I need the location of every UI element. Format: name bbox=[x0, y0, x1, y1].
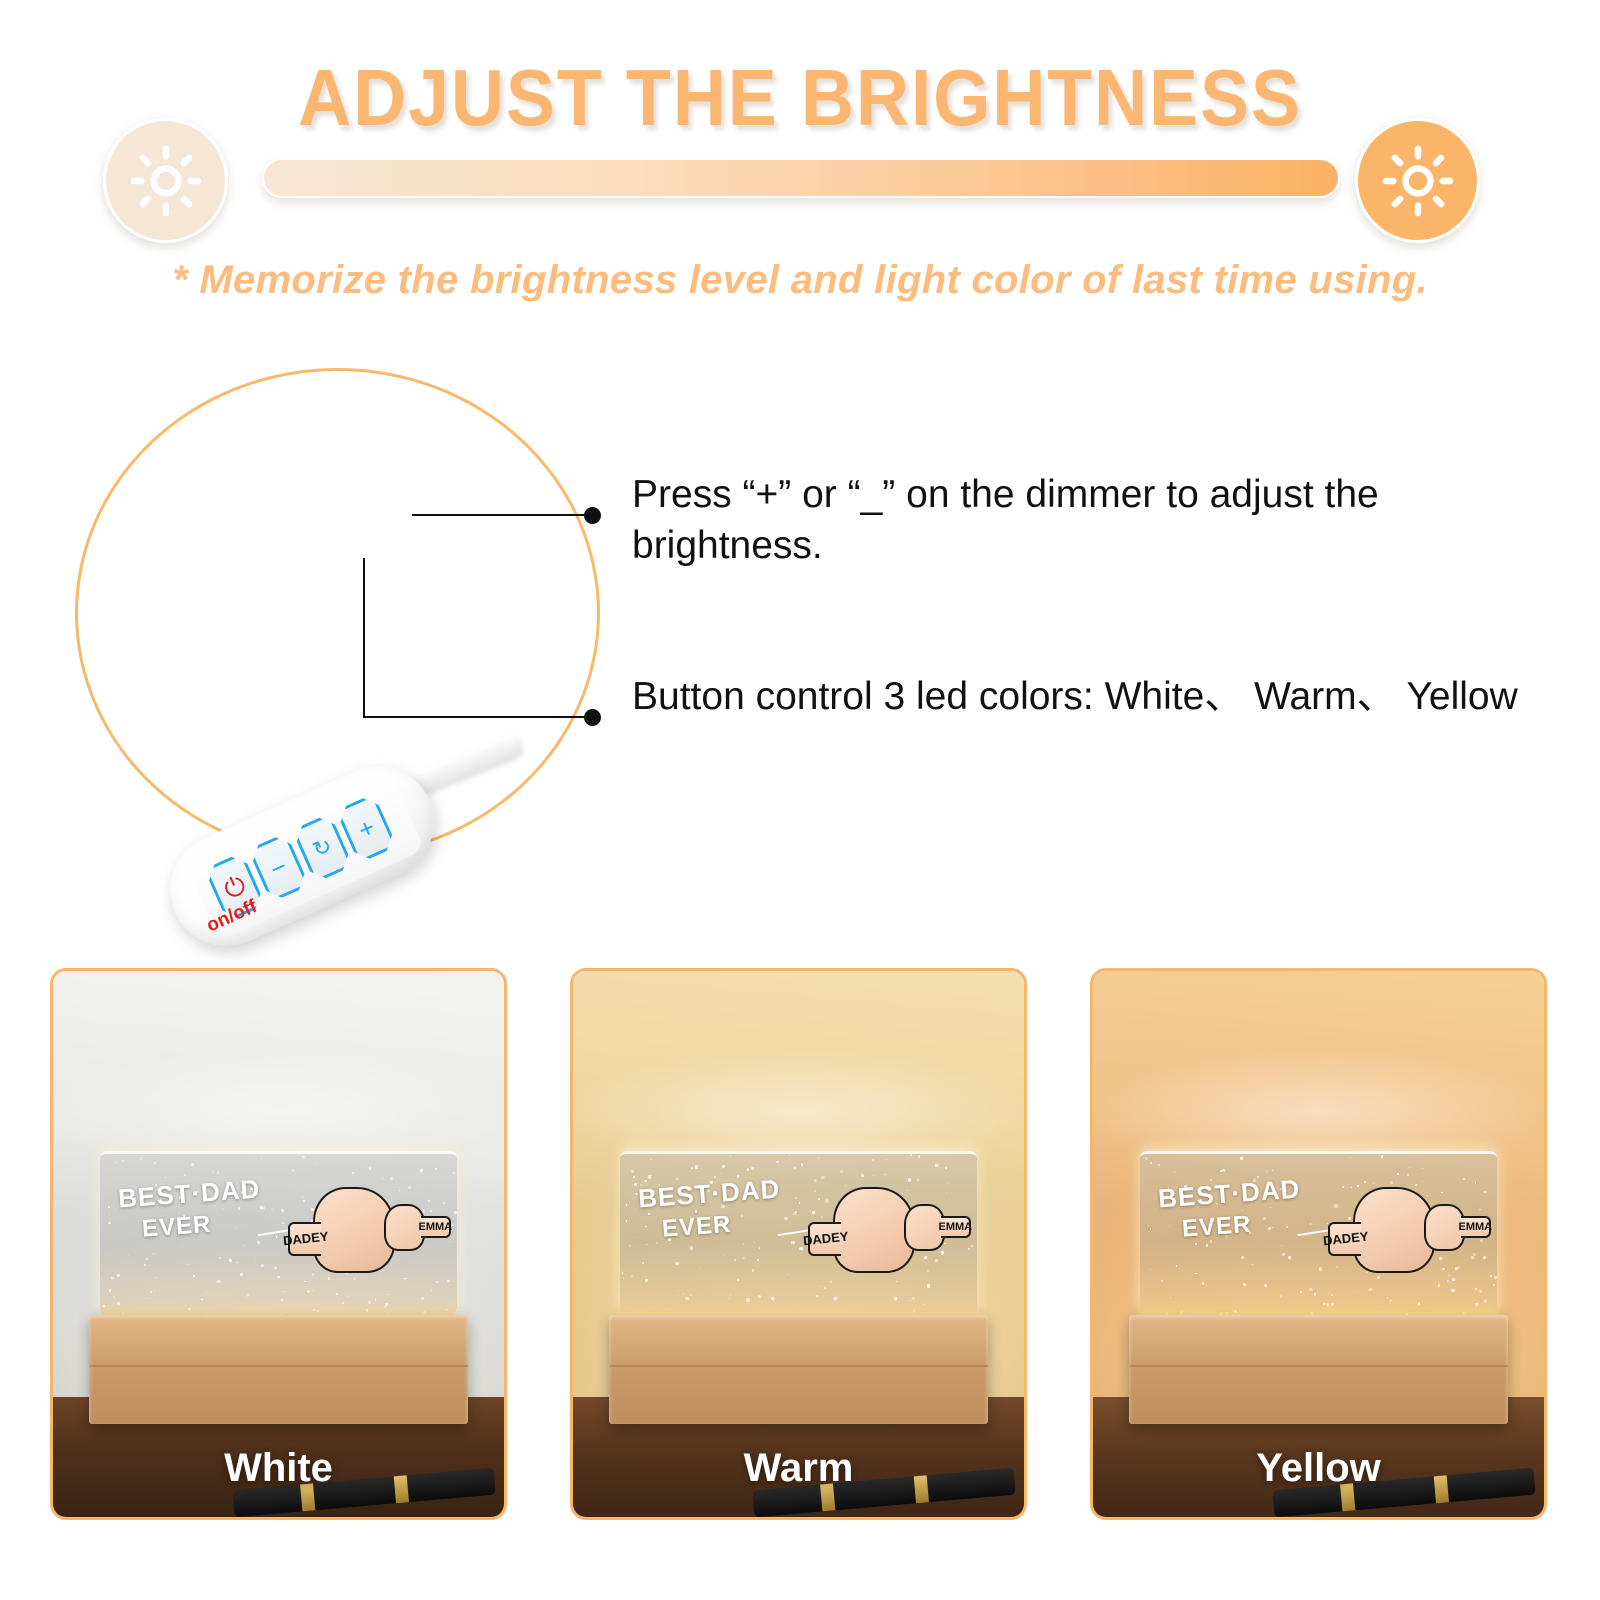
card-label-yellow: Yellow bbox=[1093, 1446, 1544, 1491]
dad-fist-label: DADEY bbox=[1328, 1222, 1361, 1256]
child-fist-label: EMMA bbox=[1461, 1216, 1491, 1238]
fist-bump-illustration: DADEY EMMA bbox=[795, 1175, 966, 1294]
color-card-warm[interactable]: BEST·DAD EVER DADEY EMMA bbox=[570, 968, 1027, 1520]
child-fist: EMMA bbox=[384, 1204, 425, 1252]
child-fist: EMMA bbox=[904, 1204, 945, 1252]
card-label-white: White bbox=[53, 1446, 504, 1491]
dad-name: DADEY bbox=[282, 1229, 329, 1249]
color-card-white[interactable]: BEST·DAD EVER DADEY EMMA bbox=[50, 968, 507, 1520]
dad-fist: DADEY bbox=[313, 1187, 395, 1273]
callout-dot-2 bbox=[584, 709, 601, 726]
child-fist-label: EMMA bbox=[941, 1216, 971, 1238]
plaque-text: BEST·DAD EVER bbox=[638, 1180, 795, 1237]
callout-dot-1 bbox=[584, 507, 601, 524]
night-light: BEST·DAD EVER DADEY EMMA bbox=[609, 1151, 988, 1424]
night-light: BEST·DAD EVER DADEY EMMA bbox=[89, 1151, 468, 1424]
callout-line-1 bbox=[412, 514, 592, 516]
plaque-line-1: BEST·DAD bbox=[638, 1174, 796, 1211]
color-cards-section: BEST·DAD EVER DADEY EMMA bbox=[0, 940, 1600, 1560]
fist-bump-illustration: DADEY EMMA bbox=[275, 1175, 446, 1294]
sun-high-icon bbox=[1355, 118, 1480, 243]
child-name: EMMA bbox=[939, 1221, 973, 1233]
child-fist: EMMA bbox=[1424, 1204, 1465, 1252]
plaque-text: BEST·DAD EVER bbox=[118, 1180, 275, 1237]
acrylic-panel: BEST·DAD EVER DADEY EMMA bbox=[620, 1151, 976, 1315]
dad-fist-label: DADEY bbox=[288, 1222, 321, 1256]
callout-line-2-horizontal bbox=[363, 716, 592, 718]
page-title: ADJUST THE BRIGHTNESS bbox=[64, 52, 1536, 144]
brightness-slider[interactable] bbox=[262, 158, 1340, 198]
plaque-line-1: BEST·DAD bbox=[118, 1174, 276, 1211]
plaque-line-2: EVER bbox=[662, 1208, 796, 1241]
header-note: * Memorize the brightness level and ligh… bbox=[0, 258, 1600, 303]
plaque-line-2: EVER bbox=[142, 1208, 276, 1241]
wooden-base bbox=[1129, 1315, 1508, 1424]
fist-bump-illustration: DADEY EMMA bbox=[1315, 1175, 1486, 1294]
plaque-text: BEST·DAD EVER bbox=[1158, 1180, 1315, 1237]
wooden-base bbox=[89, 1315, 468, 1424]
acrylic-panel: BEST·DAD EVER DADEY EMMA bbox=[100, 1151, 456, 1315]
night-light: BEST·DAD EVER DADEY EMMA bbox=[1129, 1151, 1508, 1424]
child-name: EMMA bbox=[1459, 1221, 1493, 1233]
child-name: EMMA bbox=[419, 1221, 453, 1233]
dimmer-section: ⏻ − ↻ + on/off Press “+” or “_” on the d… bbox=[0, 350, 1600, 910]
child-fist-label: EMMA bbox=[421, 1216, 451, 1238]
callout-text-1: Press “+” or “_” on the dimmer to adjust… bbox=[632, 470, 1512, 571]
plaque-line-2: EVER bbox=[1182, 1208, 1316, 1241]
dad-fist-label: DADEY bbox=[808, 1222, 841, 1256]
card-label-warm: Warm bbox=[573, 1446, 1024, 1491]
callout-text-2: Button control 3 led colors: White、 Warm… bbox=[632, 672, 1532, 723]
acrylic-panel: BEST·DAD EVER DADEY EMMA bbox=[1140, 1151, 1496, 1315]
callout-line-2-vertical bbox=[363, 558, 365, 718]
plaque-line-1: BEST·DAD bbox=[1158, 1174, 1316, 1211]
dad-name: DADEY bbox=[802, 1229, 849, 1249]
color-card-yellow[interactable]: BEST·DAD EVER DADEY EMMA bbox=[1090, 968, 1547, 1520]
dad-fist: DADEY bbox=[833, 1187, 915, 1273]
sun-low-icon bbox=[103, 118, 228, 243]
wooden-base bbox=[609, 1315, 988, 1424]
dad-name: DADEY bbox=[1322, 1229, 1369, 1249]
header-section: ADJUST THE BRIGHTNESS * Memorize bbox=[0, 0, 1600, 330]
dad-fist: DADEY bbox=[1353, 1187, 1435, 1273]
